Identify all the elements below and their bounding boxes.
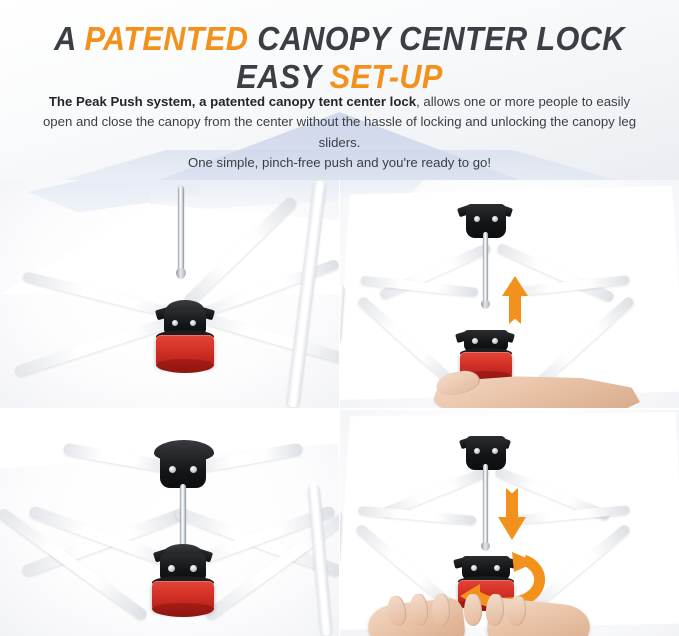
arrow-shaft <box>509 295 521 324</box>
center-rod <box>178 186 184 272</box>
center-rod <box>180 484 186 550</box>
hub-bolt <box>492 338 498 344</box>
page-title: A PATENTED CANOPY CENTER LOCK EASY SET-U… <box>0 22 679 93</box>
product-feature-image: A PATENTED CANOPY CENTER LOCK EASY SET-U… <box>0 0 679 636</box>
hub-bolt <box>474 216 480 222</box>
arrow-head <box>498 517 526 540</box>
hub-bolt <box>492 216 498 222</box>
panel-grid <box>0 180 679 636</box>
headline-line-2: EASY SET-UP <box>24 60 655 94</box>
hub-bolt <box>472 338 478 344</box>
header-section: A PATENTED CANOPY CENTER LOCK EASY SET-U… <box>0 0 679 180</box>
arrow-head <box>502 276 528 296</box>
center-rod <box>483 232 488 304</box>
hub-bolt <box>190 466 197 473</box>
hub-bolt <box>172 320 178 326</box>
orange-up-arrow <box>502 276 528 324</box>
description-paragraph: The Peak Push system, a patented canopy … <box>34 92 645 174</box>
finger <box>432 594 450 626</box>
panel-locked-closed <box>0 180 339 408</box>
panel-push-up <box>340 180 679 408</box>
description-closing-line: One simple, pinch-free push and you're r… <box>188 155 491 170</box>
upper-hub <box>160 452 206 488</box>
headline-pre: A <box>54 20 84 57</box>
headline-highlight-patented: PATENTED <box>84 20 248 57</box>
arrow-shaft <box>506 488 518 518</box>
headline-highlight-setup: SET-UP <box>330 58 443 95</box>
panel-extended <box>0 410 339 636</box>
headline-post: CANOPY CENTER LOCK <box>248 20 625 57</box>
headline-line-1: A PATENTED CANOPY CENTER LOCK <box>24 22 655 56</box>
hub-bolt <box>169 466 176 473</box>
hub-bolt <box>168 565 175 572</box>
description-bold-lead: The Peak Push system, a patented canopy … <box>49 94 416 109</box>
orange-down-arrow <box>498 488 526 540</box>
center-rod <box>483 464 488 546</box>
hub-bolt <box>190 565 197 572</box>
hub-bolt <box>190 320 196 326</box>
headline-easy: EASY <box>236 58 329 95</box>
finger <box>464 594 482 626</box>
panel-push-down-twist <box>340 410 679 636</box>
hub-bolt <box>474 448 480 454</box>
hub-bolt <box>492 448 498 454</box>
